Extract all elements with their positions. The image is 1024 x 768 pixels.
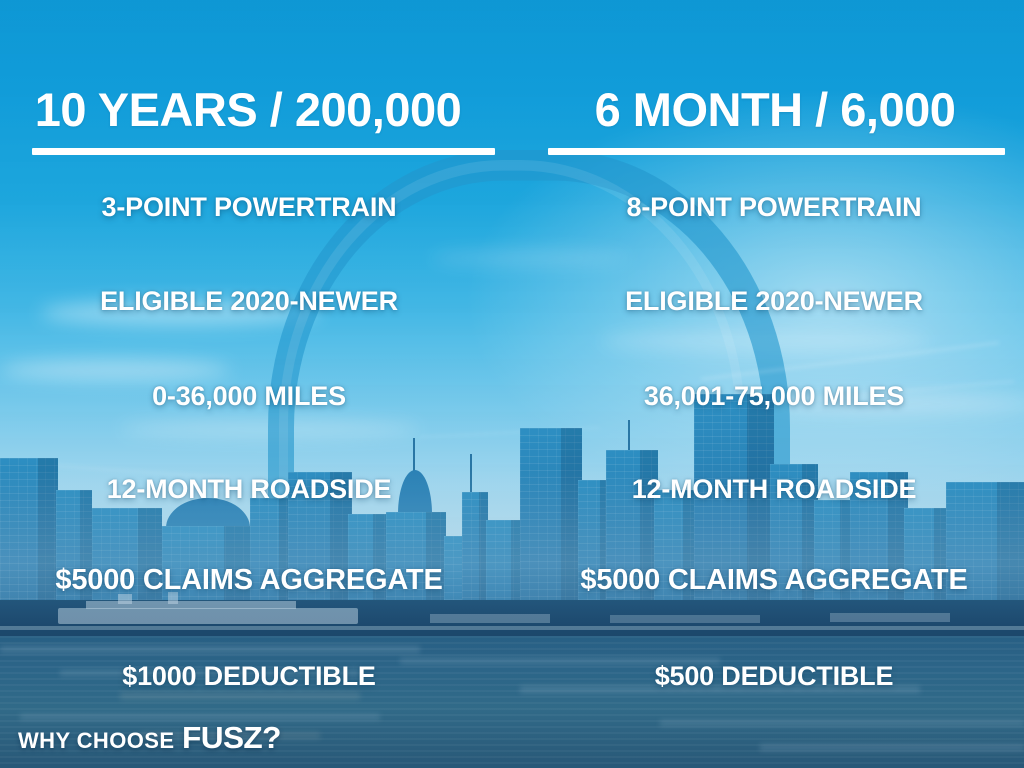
plan-feature-powertrain: 8-POINT POWERTRAIN — [512, 192, 1024, 223]
footer-brand-name: FUSZ? — [182, 720, 281, 756]
plan-feature-roadside: 12-MONTH ROADSIDE — [0, 474, 512, 505]
footer-brand-lockup: WHY CHOOSE FUSZ? — [18, 720, 280, 756]
headline-underline-right — [548, 148, 1005, 155]
footer-prefix-text: WHY CHOOSE — [18, 728, 174, 754]
plan-feature-powertrain: 3-POINT POWERTRAIN — [0, 192, 512, 223]
plan-feature-eligibility: ELIGIBLE 2020-NEWER — [512, 286, 1024, 317]
plan-feature-claims-aggregate: $5000 CLAIMS AGGREGATE — [512, 564, 1024, 597]
plan-feature-claims-aggregate: $5000 CLAIMS AGGREGATE — [0, 564, 512, 597]
plan-headline: 6 MONTH / 6,000 — [512, 86, 1024, 135]
plan-feature-eligibility: ELIGIBLE 2020-NEWER — [0, 286, 512, 317]
slide-canvas: 10 YEARS / 200,000 3-POINT POWERTRAIN EL… — [0, 0, 1024, 768]
plan-feature-deductible: $1000 DEDUCTIBLE — [0, 661, 512, 692]
plan-headline: 10 YEARS / 200,000 — [0, 86, 512, 135]
plan-feature-deductible: $500 DEDUCTIBLE — [512, 661, 1024, 692]
plan-column-6-month: 6 MONTH / 6,000 8-POINT POWERTRAIN ELIGI… — [512, 0, 1024, 768]
slide-content: 10 YEARS / 200,000 3-POINT POWERTRAIN EL… — [0, 0, 1024, 768]
headline-underline-left — [32, 148, 495, 155]
plan-feature-mileage: 0-36,000 MILES — [0, 381, 512, 412]
plan-feature-roadside: 12-MONTH ROADSIDE — [512, 474, 1024, 505]
plan-column-10-year: 10 YEARS / 200,000 3-POINT POWERTRAIN EL… — [0, 0, 512, 768]
plan-feature-mileage: 36,001-75,000 MILES — [512, 381, 1024, 412]
